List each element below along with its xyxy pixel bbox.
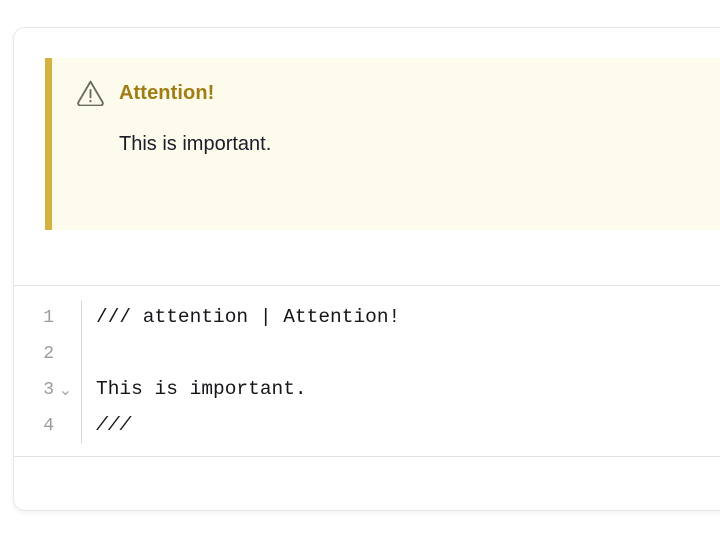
warning-triangle-icon (76, 79, 105, 106)
admonition-title-row: Attention! (52, 58, 720, 106)
line-number: 2 (43, 345, 54, 363)
code-table: 1 ⌄ 2 ⌄ 3 ⌄ 4 ⌄ /// attention | Attentio… (14, 300, 720, 444)
gutter-row: 2 ⌄ (14, 336, 81, 372)
code-lines[interactable]: /// attention | Attention! This is impor… (82, 300, 720, 444)
gutter-row: 3 ⌄ (14, 372, 81, 408)
code-line[interactable]: /// attention | Attention! (96, 300, 720, 336)
line-number: 3 (43, 381, 54, 399)
line-number: 4 (43, 417, 54, 435)
code-line[interactable]: This is important. (96, 372, 720, 408)
gutter-row: 1 ⌄ (14, 300, 81, 336)
admonition-title: Attention! (119, 83, 214, 103)
code-line[interactable]: /// (96, 408, 720, 444)
example-card: Attention! This is important. 1 ⌄ 2 ⌄ 3 … (13, 27, 720, 511)
code-block-pane[interactable]: 1 ⌄ 2 ⌄ 3 ⌄ 4 ⌄ /// attention | Attentio… (14, 286, 720, 456)
admonition-body-text: This is important. (52, 106, 720, 157)
code-line[interactable] (96, 336, 720, 372)
line-number-gutter: 1 ⌄ 2 ⌄ 3 ⌄ 4 ⌄ (14, 300, 82, 444)
fold-chevron-icon[interactable]: ⌄ (59, 380, 72, 400)
attention-admonition: Attention! This is important. (45, 58, 720, 230)
card-footer (14, 457, 720, 509)
line-number: 1 (43, 309, 54, 327)
rendered-preview-pane: Attention! This is important. (14, 28, 720, 285)
gutter-row: 4 ⌄ (14, 408, 81, 444)
